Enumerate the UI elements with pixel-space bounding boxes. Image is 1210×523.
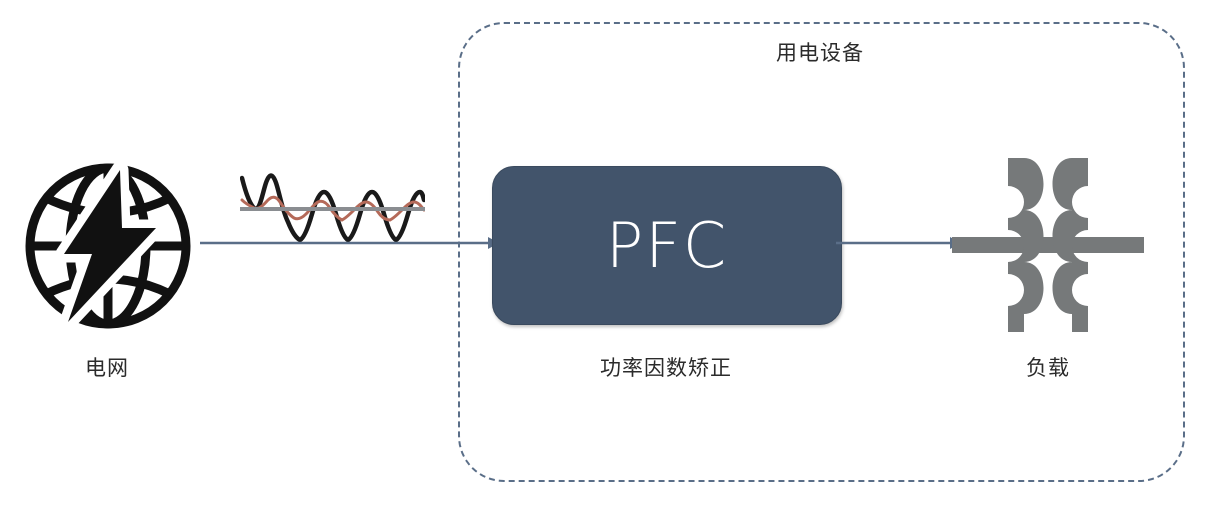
pfc-block-label: 功率因数矫正	[546, 352, 786, 382]
equipment-enclosure-label: 用电设备	[700, 37, 940, 67]
grid-label: 电网	[27, 352, 187, 382]
load-label: 负载	[968, 352, 1128, 382]
pfc-block[interactable]: PFC	[492, 166, 842, 325]
transformer-coil-icon	[952, 150, 1144, 340]
pfc-block-text: PFC	[606, 215, 728, 277]
diagram-canvas: 用电设备 电网	[0, 0, 1210, 523]
connector-grid-to-pfc	[200, 226, 500, 260]
globe-lightning-icon	[24, 162, 192, 330]
connector-pfc-to-load	[836, 226, 962, 260]
